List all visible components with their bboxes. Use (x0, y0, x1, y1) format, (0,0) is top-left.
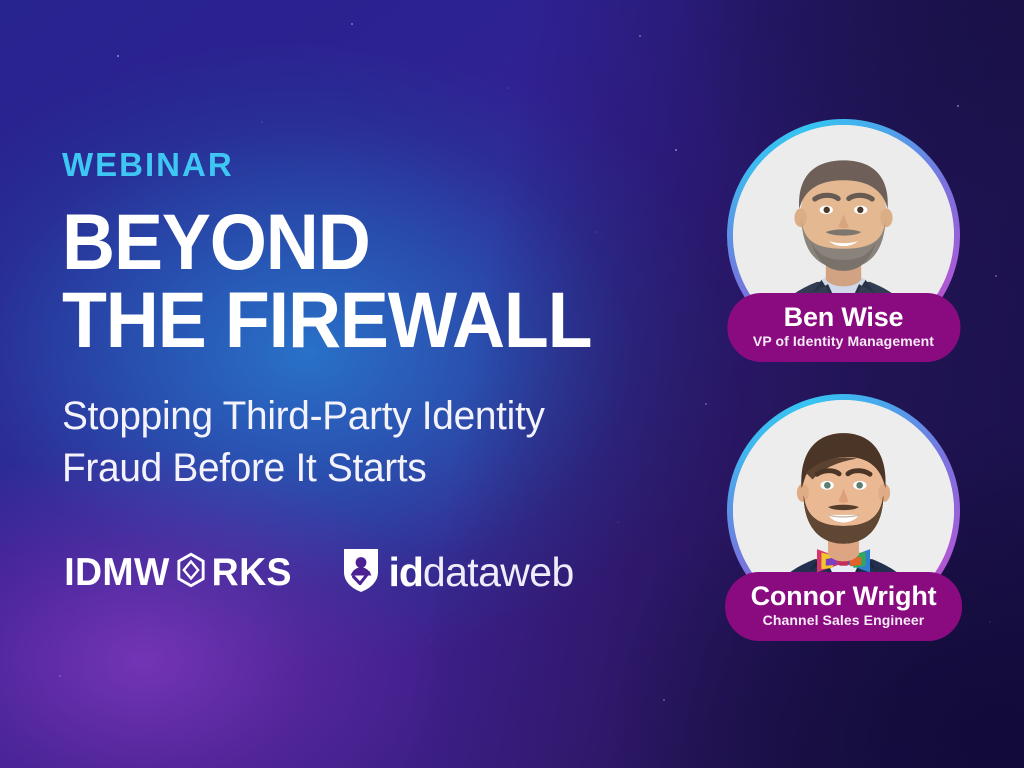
speaker-name: Connor Wright (751, 582, 937, 610)
idmworks-text-after: RKS (212, 553, 292, 592)
subtitle-line-2: Fraud Before It Starts (62, 442, 702, 494)
speaker-card-connor-wright: Connor Wright Channel Sales Engineer (727, 394, 960, 627)
shield-person-check-icon (341, 546, 381, 599)
idmworks-text-before: IDMW (64, 553, 170, 592)
page-subtitle: Stopping Third-Party Identity Fraud Befo… (62, 390, 702, 494)
iddataweb-text-light: dataweb (423, 552, 574, 593)
speaker-name-pill: Connor Wright Channel Sales Engineer (725, 572, 963, 641)
headline-block: WEBINAR BEYOND THE FIREWALL Stopping Thi… (62, 148, 722, 494)
eyebrow-label: WEBINAR (62, 148, 722, 181)
iddataweb-text-bold: id (388, 552, 422, 593)
webinar-promo-banner: WEBINAR BEYOND THE FIREWALL Stopping Thi… (0, 0, 1024, 768)
speaker-role: Channel Sales Engineer (751, 612, 937, 630)
logo-iddataweb: id dataweb (341, 549, 573, 595)
speaker-name: Ben Wise (753, 303, 934, 331)
headline-line-2: THE FIREWALL (62, 281, 676, 359)
headline-line-1: BEYOND (62, 203, 676, 281)
logo-idmworks: IDMW RKS (62, 550, 293, 594)
page-title: BEYOND THE FIREWALL (62, 203, 676, 359)
speaker-role: VP of Identity Management (753, 333, 934, 351)
speaker-card-ben-wise: Ben Wise VP of Identity Management (727, 119, 960, 352)
subtitle-line-1: Stopping Third-Party Identity (62, 390, 702, 442)
speaker-name-pill: Ben Wise VP of Identity Management (727, 293, 960, 362)
logo-row: IDMW RKS id dataweb (62, 549, 574, 595)
hexagon-knot-icon (173, 552, 209, 593)
